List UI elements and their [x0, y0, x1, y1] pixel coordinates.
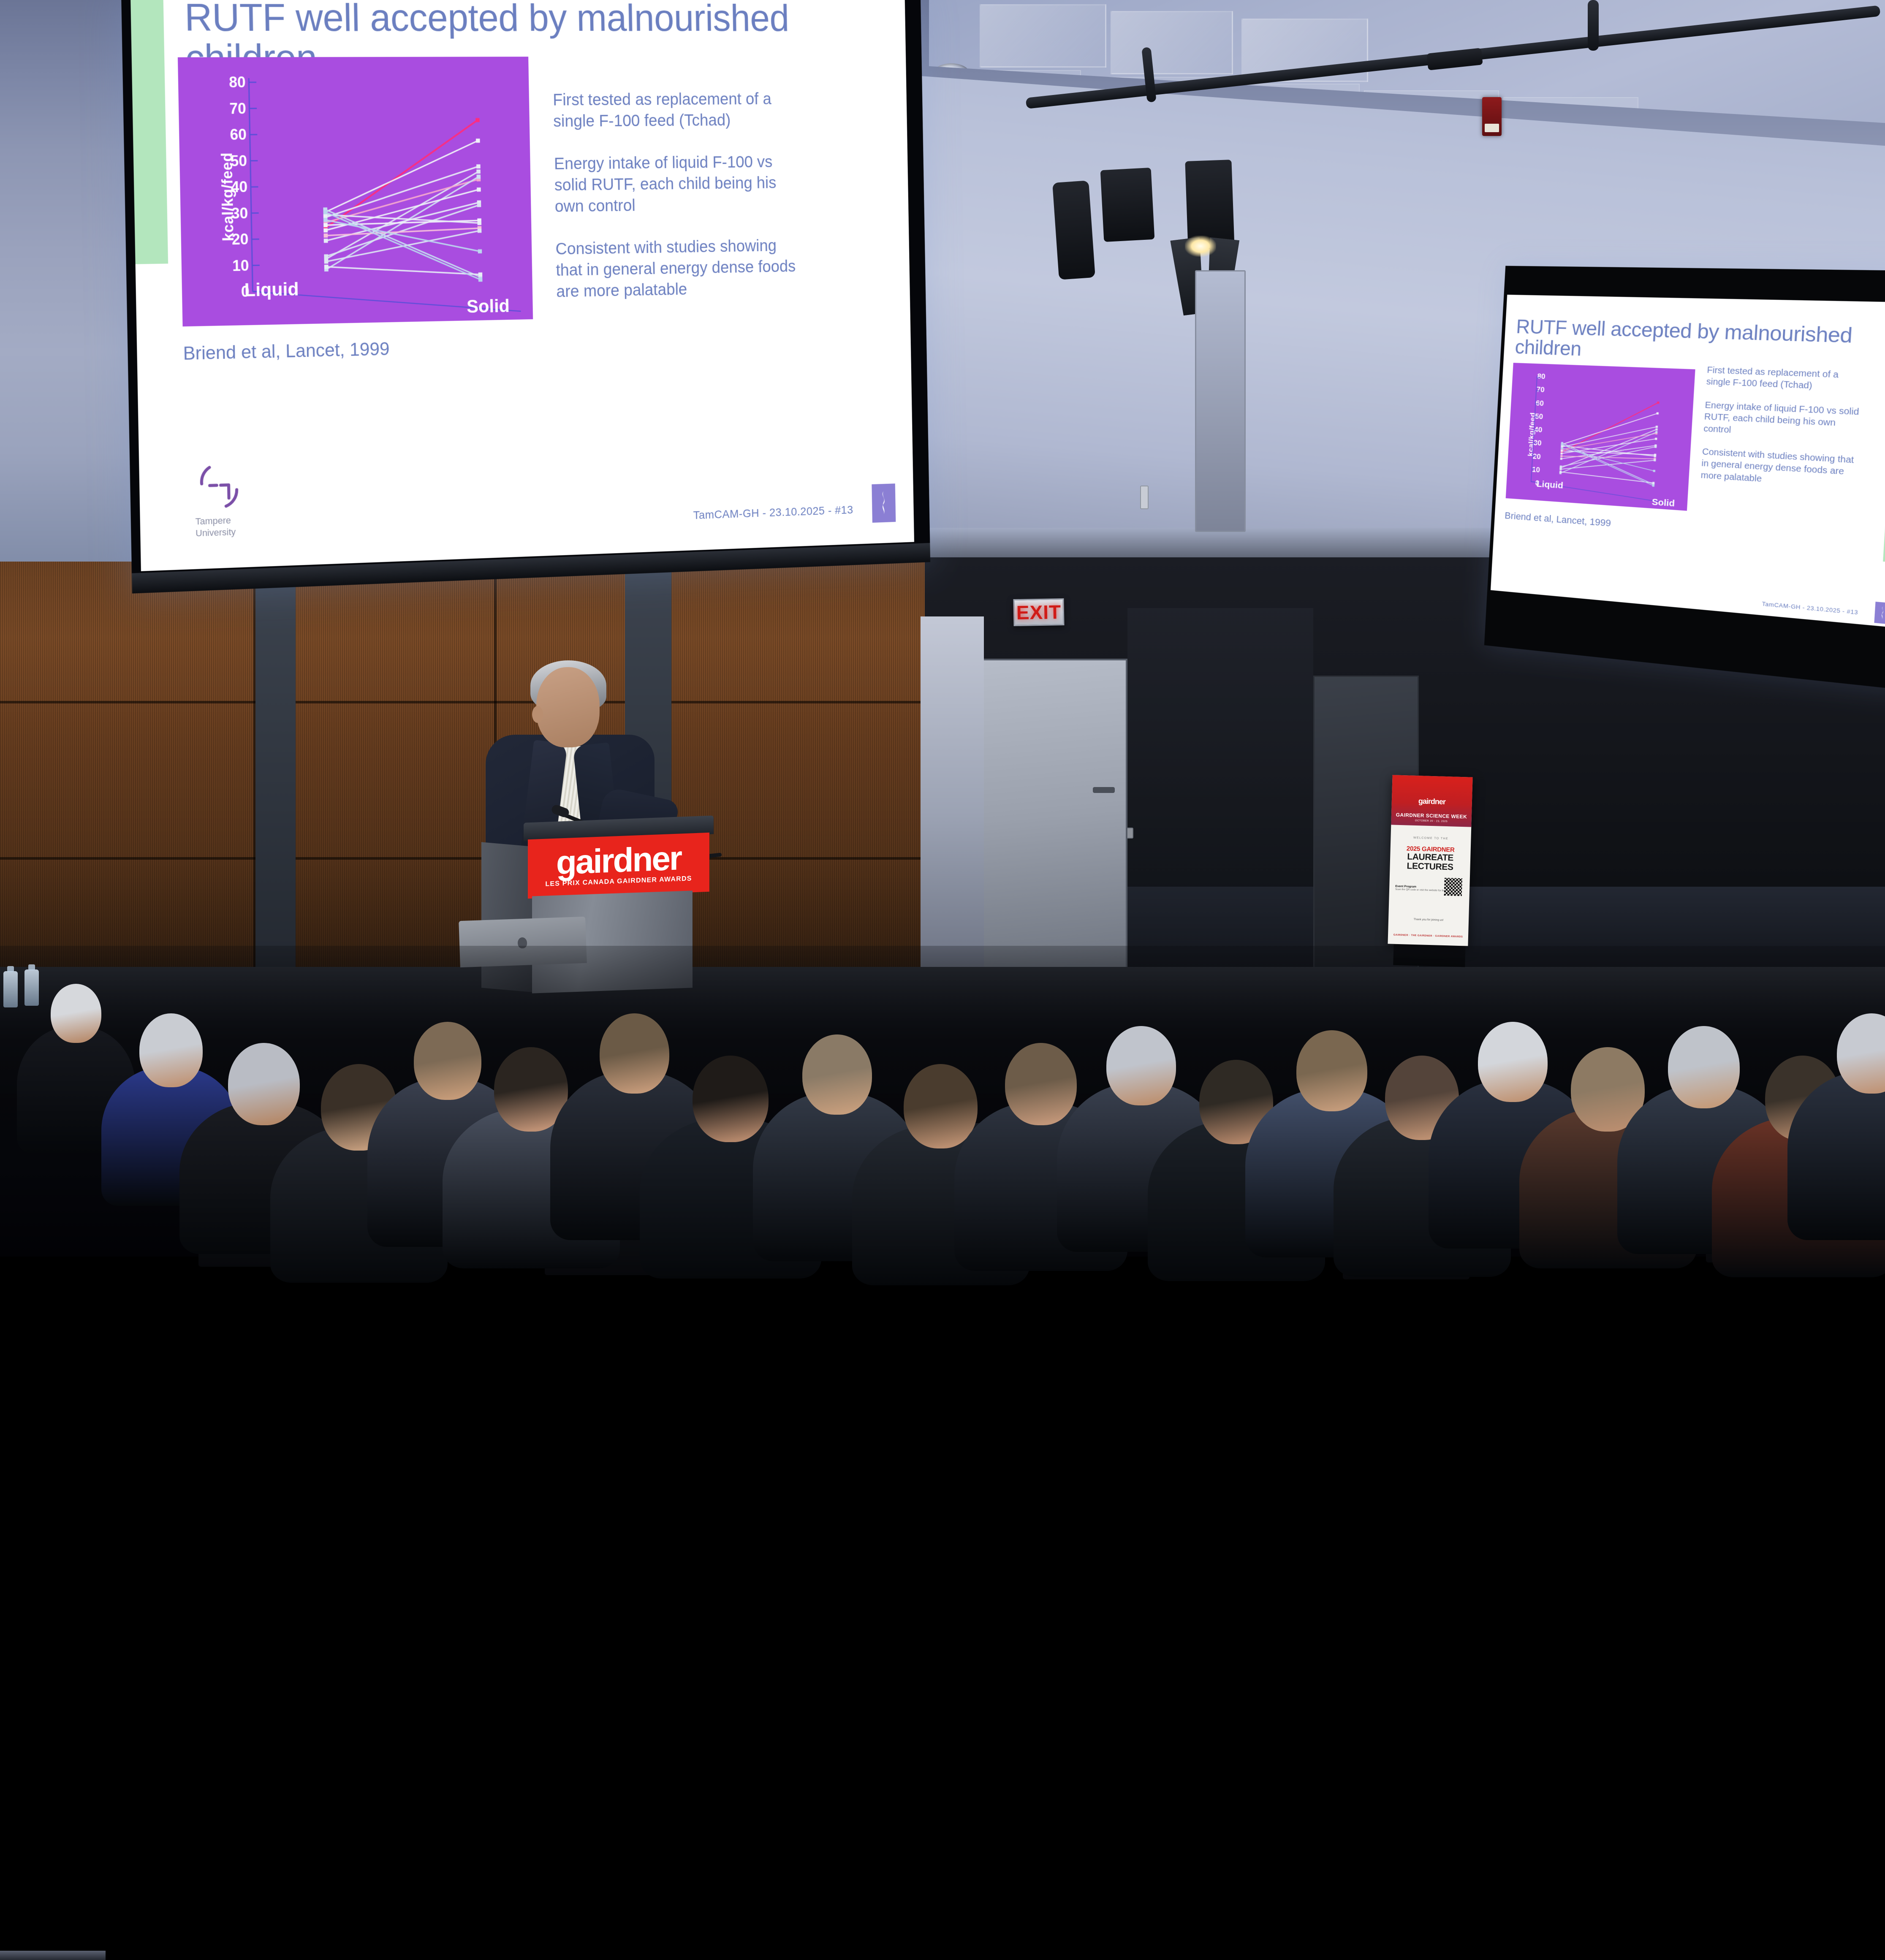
audience-member-head	[1106, 1026, 1176, 1105]
speaker-ear	[532, 706, 543, 723]
slope-chart: kcal/kg/feed 01020304050607080 Liquid So…	[178, 57, 533, 326]
chart-x-label-solid: Solid	[467, 296, 510, 318]
main-slide-surface: RUTF well accepted by malnourished child…	[130, 0, 914, 571]
slide-bullet-list: First tested as replacement of a single …	[553, 88, 798, 323]
speaker-head	[536, 667, 600, 747]
audience-member-head	[139, 1013, 203, 1087]
audience-member-head	[1296, 1030, 1367, 1111]
chart-plot-area	[178, 57, 533, 326]
slide-source-caption: Briend et al, Lancet, 1999	[183, 339, 390, 364]
wall-speaker-grille	[1195, 270, 1246, 532]
slide-bullet: Energy intake of liquid F-100 vs solid R…	[554, 151, 796, 217]
water-bottle	[3, 971, 18, 1007]
fire-alarm-icon	[1482, 97, 1502, 136]
slide-corner-logo	[872, 483, 896, 523]
banner-thanks-label: Thank you for joining us!	[1388, 917, 1469, 922]
exit-sign: EXIT	[1013, 598, 1064, 626]
door-handle[interactable]	[1093, 787, 1115, 793]
chart-x-label-liquid: Liquid	[244, 279, 299, 301]
audience-member-head	[414, 1022, 481, 1100]
slide-bullet: Energy intake of liquid F-100 vs solid R…	[1703, 399, 1861, 442]
main-projection-screen: RUTF well accepted by malnourished child…	[121, 0, 930, 594]
slide-bullet-list: First tested as replacement of a single …	[1700, 364, 1863, 503]
wall-column	[1127, 608, 1313, 980]
audience-member-head	[1668, 1026, 1740, 1108]
audience-member-head	[51, 984, 101, 1043]
stage-light-fixture	[1100, 168, 1155, 242]
slide-bullet: Consistent with studies showing that in …	[555, 235, 798, 302]
truss-drop-pipe	[1588, 0, 1599, 51]
wall-plate	[1140, 486, 1149, 509]
audience-member-head	[802, 1034, 872, 1115]
audience-member-head	[600, 1013, 669, 1094]
water-bottle	[24, 969, 39, 1006]
slide-green-accent-bar	[130, 0, 168, 264]
banner-welcome-label: WELCOME TO THE	[1396, 836, 1465, 841]
exit-door[interactable]	[980, 659, 1127, 971]
slide-chart-panel: kcal/kg/feed 01020304050607080 Liquid So…	[1506, 363, 1695, 511]
banner-week-label: GAIRDNER SCIENCE WEEK	[1396, 812, 1467, 820]
slide-title: RUTF well accepted by malnourished child…	[1515, 316, 1874, 369]
slide-chart-panel: kcal/kg/feed 01020304050607080 Liquid So…	[178, 57, 533, 326]
banner-header: gairdner GAIRDNER SCIENCE WEEK OCTOBER 2…	[1391, 775, 1472, 827]
podium-sign: gairdner LES PRIX CANADA GAIRDNER AWARDS	[528, 833, 709, 899]
slide-secondary: RUTF well accepted by malnourished child…	[1491, 295, 1885, 628]
banner-dates-label: OCTOBER 20 - 23, 2025	[1415, 820, 1448, 823]
event-banner: gairdner GAIRDNER SCIENCE WEEK OCTOBER 2…	[1388, 775, 1472, 946]
audience-member-head	[693, 1056, 769, 1142]
stage-light-beam	[1185, 236, 1216, 257]
wall-gap	[255, 566, 296, 980]
secondary-display: RUTF well accepted by malnourished child…	[1484, 266, 1885, 690]
banner-brand-label: gairdner	[1418, 797, 1446, 806]
qr-code-icon	[1444, 878, 1462, 896]
chart-plot-area	[1506, 363, 1695, 511]
stage-light-fixture	[1052, 180, 1095, 280]
slide-green-accent-bar	[1883, 302, 1885, 563]
side-table	[0, 1951, 106, 1960]
tampere-university-logo: Tampere University	[194, 460, 279, 539]
audience-member-head	[1005, 1043, 1077, 1125]
slope-chart: kcal/kg/feed 01020304050607080 Liquid So…	[1506, 363, 1695, 511]
tampere-logo-text: Tampere University	[195, 513, 278, 539]
slide-footer-text: TamCAM-GH - 23.10.2025 - #13	[693, 503, 853, 522]
slide-bullet: Consistent with studies showing that in …	[1700, 446, 1858, 491]
slide-source-caption: Briend et al, Lancet, 1999	[1505, 510, 1611, 529]
banner-footer-label: GAIRDNER · THE GAIRDNER · GAIRDNER AWARD…	[1388, 934, 1468, 938]
slide-corner-logo	[1874, 602, 1885, 624]
tampere-logo-mark-icon	[194, 461, 245, 513]
wall-column	[921, 616, 984, 980]
slide-main: RUTF well accepted by malnourished child…	[130, 0, 914, 571]
slide-footer-text: TamCAM-GH - 23.10.2025 - #13	[1762, 600, 1858, 616]
chart-x-label-liquid: Liquid	[1536, 479, 1563, 491]
audience-member-head	[228, 1043, 300, 1125]
exit-sign-label: EXIT	[1016, 600, 1061, 624]
audience-member-head	[904, 1064, 978, 1148]
podium-brand-label: gairdner	[556, 843, 681, 878]
banner-title-line2: LECTURES	[1396, 861, 1464, 872]
chart-x-label-solid: Solid	[1651, 497, 1675, 509]
slide-bullet: First tested as replacement of a single …	[553, 88, 795, 132]
audience-member-head	[1478, 1022, 1548, 1102]
slide-bullet: First tested as replacement of a single …	[1706, 364, 1863, 394]
secondary-slide-surface: RUTF well accepted by malnourished child…	[1491, 295, 1885, 628]
